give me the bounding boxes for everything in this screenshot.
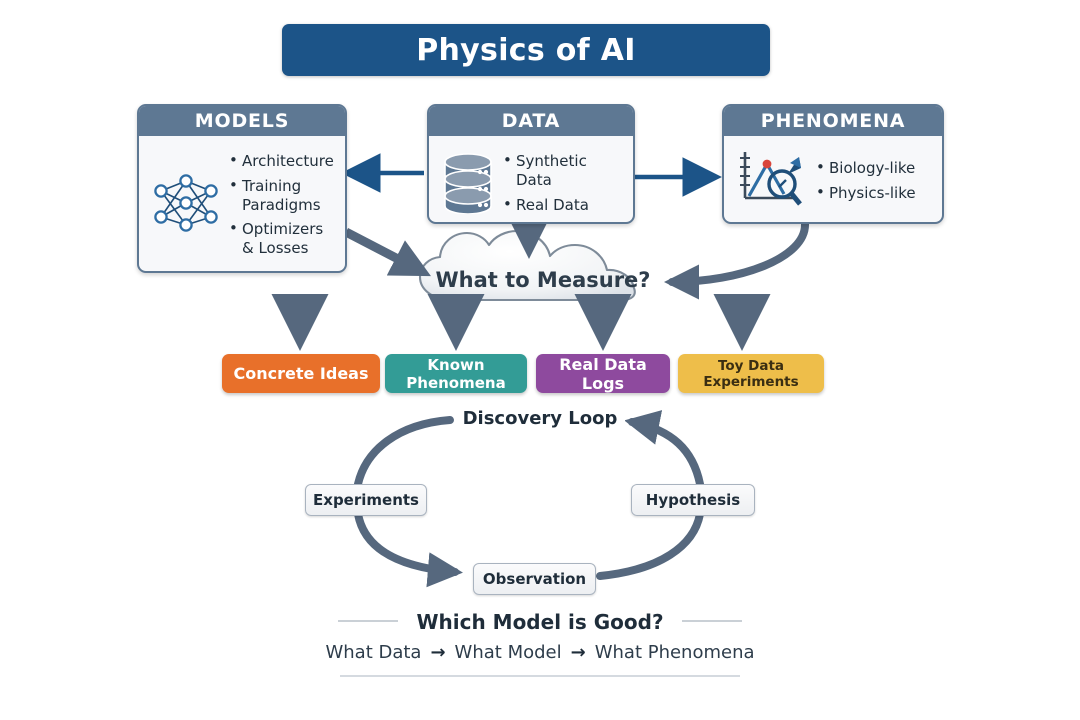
card-models[interactable]: MODELS <box>137 104 347 273</box>
flow-step-what-model: What Model <box>455 642 562 663</box>
pill-toy-data-experiments[interactable]: Toy Data Experiments <box>678 354 824 393</box>
arrow-phenomena-to-cloud <box>672 224 805 282</box>
arrow-models-to-cloud <box>346 232 423 272</box>
page-title: Physics of AI <box>282 24 770 76</box>
card-data-header: DATA <box>429 106 633 136</box>
loop-arc-top-right <box>632 422 700 484</box>
loop-arc-bottom-right <box>600 514 700 576</box>
bullet-real-data: Real Data <box>503 196 625 215</box>
pill-real-data-logs[interactable]: Real Data Logs <box>536 354 670 393</box>
loop-arc-bottom-left <box>358 514 455 572</box>
cloud-label: What to Measure? <box>424 258 662 302</box>
card-phenomena[interactable]: PHENOMENA <box>722 104 944 224</box>
discovery-loop-title: Discovery Loop <box>455 408 625 429</box>
bullet-synthetic-data: Synthetic Data <box>503 152 625 190</box>
loop-node-observation[interactable]: Observation <box>473 563 596 595</box>
footer-title: Which Model is Good? <box>400 610 680 634</box>
bullet-physics-like: Physics-like <box>816 184 916 203</box>
flow-arrow-icon-1: → <box>430 642 445 663</box>
loop-node-hypothesis[interactable]: Hypothesis <box>631 484 755 516</box>
card-phenomena-header: PHENOMENA <box>724 106 942 136</box>
flow-step-what-phenomena: What Phenomena <box>595 642 755 663</box>
diagram-canvas: Physics of AI MODELS <box>0 0 1080 720</box>
bullet-training-paradigms: Training Paradigms <box>229 177 337 215</box>
chart-magnifier-icon <box>734 146 810 216</box>
footer-flow: What Data → What Model → What Phenomena <box>300 642 780 663</box>
card-data-bullets: Synthetic Data Real Data <box>503 146 625 220</box>
flow-step-what-data: What Data <box>325 642 421 663</box>
pill-concrete-ideas[interactable]: Concrete Ideas <box>222 354 380 393</box>
pill-known-phenomena[interactable]: Known Phenomena <box>385 354 527 393</box>
card-models-header: MODELS <box>139 106 345 136</box>
card-models-bullets: Architecture Training Paradigms Optimize… <box>229 146 337 264</box>
neural-network-icon <box>149 169 223 241</box>
database-icon <box>439 148 497 218</box>
card-phenomena-bullets: Biology-like Physics-like <box>816 153 916 209</box>
bullet-biology-like: Biology-like <box>816 159 916 178</box>
loop-node-experiments[interactable]: Experiments <box>305 484 427 516</box>
bullet-optimizers-losses: Optimizers & Losses <box>229 220 337 258</box>
bullet-architecture: Architecture <box>229 152 337 171</box>
flow-arrow-icon-2: → <box>571 642 586 663</box>
loop-arc-top-left <box>358 420 450 484</box>
card-data[interactable]: DATA <box>427 104 635 224</box>
